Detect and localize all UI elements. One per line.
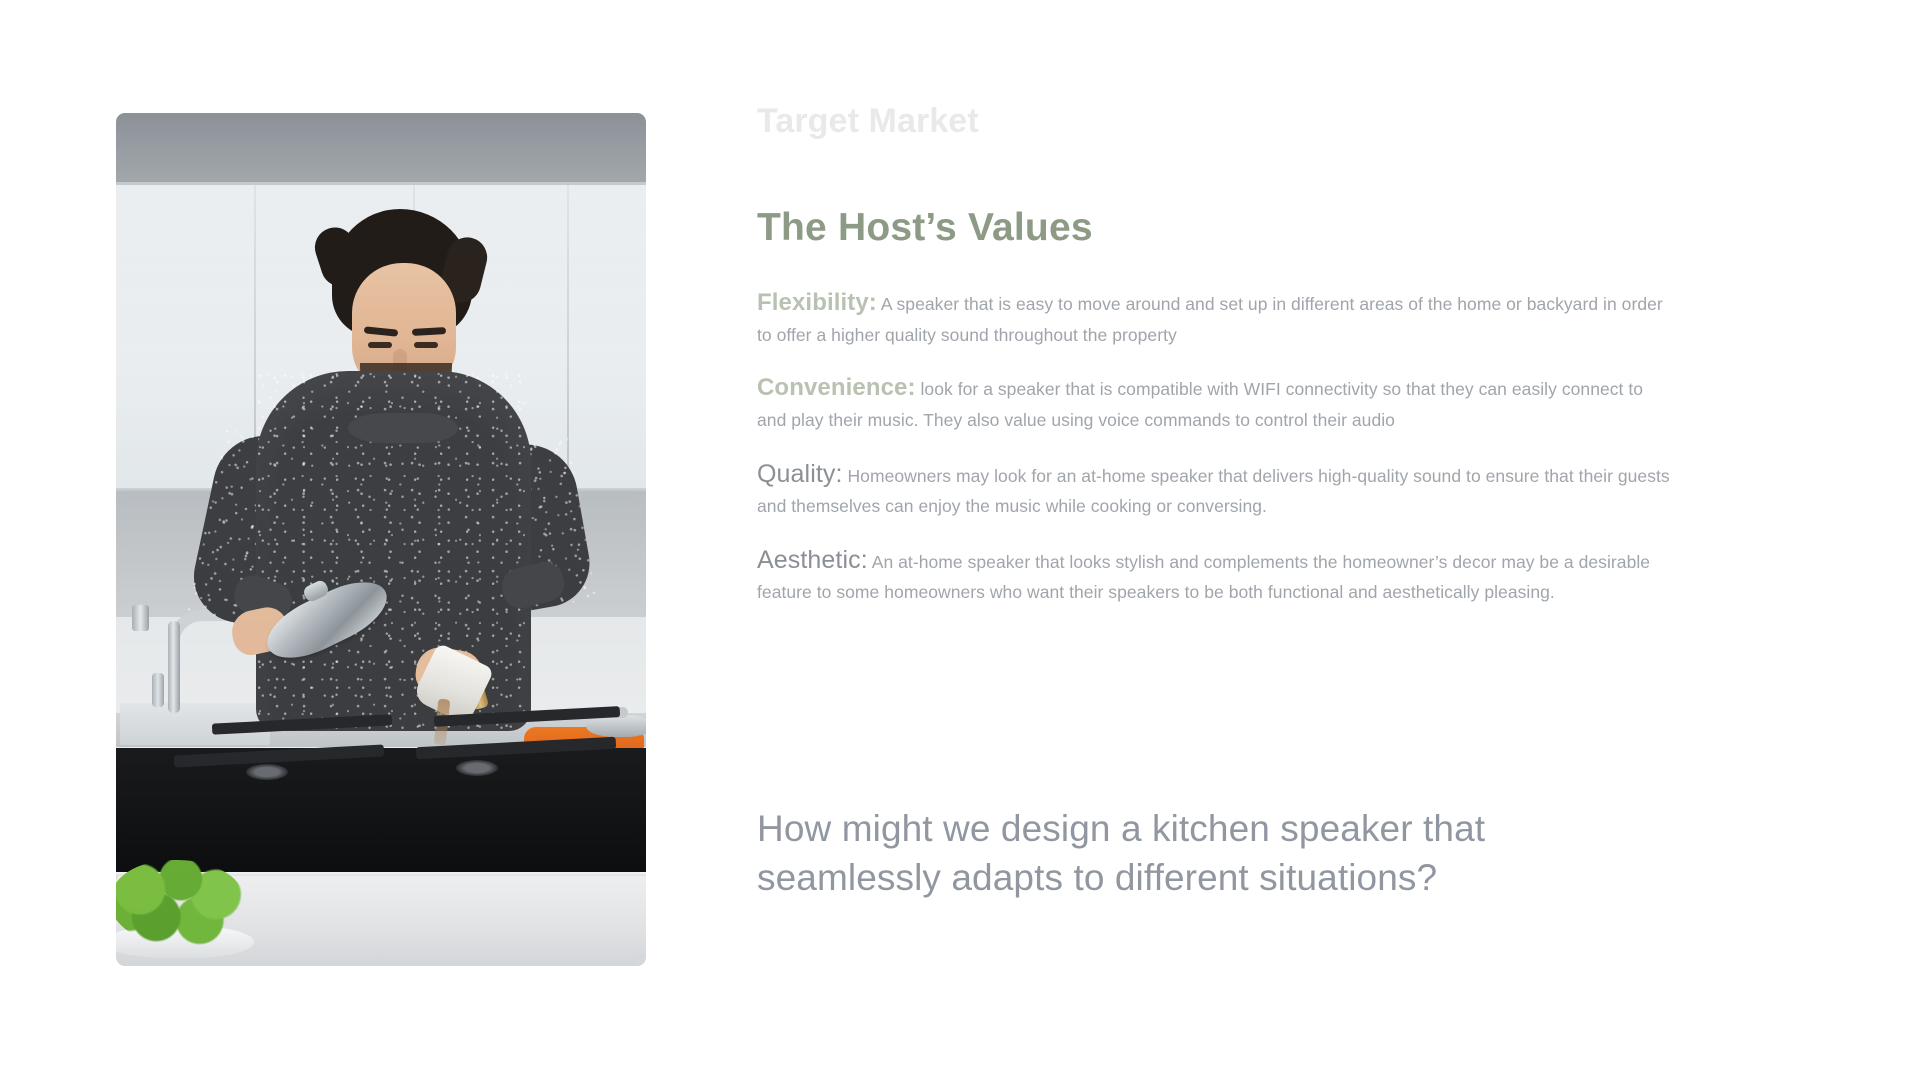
photo-ceiling-band (116, 113, 646, 185)
value-item-quality: Quality: Homeowners may look for an at-h… (757, 455, 1672, 520)
faucet-head (132, 605, 149, 631)
value-term-flexibility: Flexibility: (757, 289, 877, 316)
gas-burner (246, 764, 288, 780)
value-term-aesthetic: Aesthetic: (757, 546, 868, 574)
cabinet-seam (567, 185, 569, 492)
value-description-quality: Homeowners may look for an at-home speak… (757, 466, 1670, 516)
green-lettuce (116, 860, 246, 946)
value-description-aesthetic: An at-home speaker that looks stylish an… (757, 552, 1650, 602)
value-item-convenience: Convenience: look for a speaker that is … (757, 370, 1672, 434)
page-title: The Host’s Values (757, 205, 1687, 252)
values-list: Flexibility: A speaker that is easy to m… (757, 285, 1687, 606)
how-might-we-question: How might we design a kitchen speaker th… (757, 805, 1662, 903)
content-column: Target Market The Host’s Values Flexibil… (757, 100, 1687, 627)
hero-photo (116, 113, 646, 966)
gas-burner (456, 760, 498, 776)
value-description-flexibility: A speaker that is easy to move around an… (757, 294, 1663, 344)
cooktop-grate (174, 745, 384, 768)
value-term-quality: Quality: (757, 460, 843, 488)
value-item-aesthetic: Aesthetic: An at-home speaker that looks… (757, 541, 1672, 606)
person-eye-left (368, 342, 392, 348)
faucet-handle (152, 673, 164, 707)
kitchen-cooking-photo (116, 113, 646, 966)
sweater-collar (348, 413, 458, 443)
section-eyebrow: Target Market (757, 100, 1687, 143)
gas-cooktop (116, 748, 646, 880)
faucet-neck (168, 621, 180, 713)
value-item-flexibility: Flexibility: A speaker that is easy to m… (757, 285, 1672, 349)
person-eye-right (414, 342, 438, 348)
slide-canvas: Target Market The Host’s Values Flexibil… (0, 0, 1920, 1081)
value-term-convenience: Convenience: (757, 374, 916, 401)
